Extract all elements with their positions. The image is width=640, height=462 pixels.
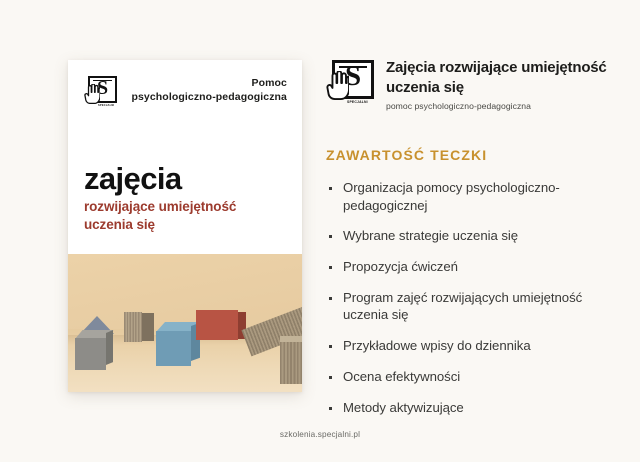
cover-kicker: Pomoc psychologiczno-pedagogiczna xyxy=(127,76,287,104)
block-small-brown xyxy=(124,312,154,342)
logo-micro-text: SPECJALNI xyxy=(347,100,368,104)
footer-url: szkolenia.specjalni.pl xyxy=(0,430,640,439)
list-item: Ocena efektywności xyxy=(326,368,616,386)
cover-photo xyxy=(68,254,302,392)
content-list: Organizacja pomocy psychologiczno-pedago… xyxy=(326,179,616,416)
product-cover-card: S SPECJALNI Pomoc psychologiczno-pedagog… xyxy=(68,60,302,392)
list-item: Organizacja pomocy psychologiczno-pedago… xyxy=(326,179,616,214)
section-title-zawartosc-teczki: ZAWARTOŚĆ TECZKI xyxy=(326,147,616,163)
pointing-hand-icon xyxy=(326,71,349,100)
block-rect-red xyxy=(196,310,246,340)
block-cube-gray xyxy=(75,330,113,370)
list-item: Program zajęć rozwijających umiejętność … xyxy=(326,289,616,324)
list-item: Metody aktywizujące xyxy=(326,399,616,417)
list-item: Przykładowe wpisy do dziennika xyxy=(326,337,616,355)
block-large-brown xyxy=(280,336,302,384)
brand-header: S SPECJALNI Zajęcia rozwijające umiejętn… xyxy=(326,58,616,111)
specjalni-logo-icon-large: S SPECJALNI xyxy=(326,60,374,106)
brand-text-block: Zajęcia rozwijające umiejętność uczenia … xyxy=(386,58,616,111)
cover-title: zajęcia xyxy=(84,163,182,194)
cover-kicker-line2: psychologiczno-pedagogiczna xyxy=(127,90,287,104)
page-title: Zajęcia rozwijające umiejętność uczenia … xyxy=(386,58,616,97)
logo-micro-text: SPECJALNI xyxy=(98,104,114,107)
list-item: Wybrane strategie uczenia się xyxy=(326,227,616,245)
pointing-hand-icon xyxy=(84,84,100,104)
cover-subtitle: rozwijające umiejętność uczenia się xyxy=(84,198,284,234)
right-pane: S SPECJALNI Zajęcia rozwijające umiejętn… xyxy=(326,58,616,429)
page-subtitle: pomoc psychologiczno-pedagogiczna xyxy=(386,101,616,111)
block-cube-blue xyxy=(156,322,200,366)
cover-top-section: S SPECJALNI Pomoc psychologiczno-pedagog… xyxy=(68,60,302,254)
list-item: Propozycja ćwiczeń xyxy=(326,258,616,276)
specjalni-logo-icon: S SPECJALNI xyxy=(84,76,118,108)
cover-kicker-line1: Pomoc xyxy=(127,76,287,90)
